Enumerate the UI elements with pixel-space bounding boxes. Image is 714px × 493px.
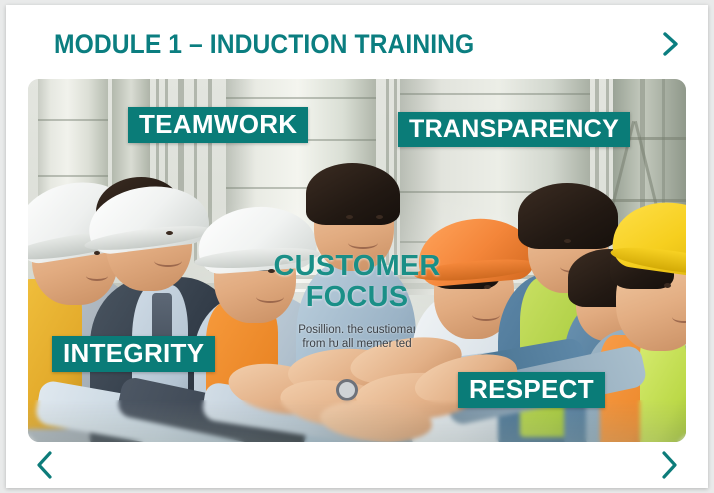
- chevron-right-icon: [658, 449, 680, 481]
- headline-subtext-line-2: from ƕ all memer ted: [227, 337, 487, 351]
- slide-card: MODULE 1 – INDUCTION TRAINING: [6, 5, 708, 488]
- headline-line-2: FOCUS: [227, 282, 487, 313]
- value-badge-integrity: INTEGRITY: [52, 336, 215, 372]
- prev-slide-button[interactable]: [28, 448, 62, 482]
- headline-subtext: Posillion. the custiomaı from ƕ all meme…: [227, 323, 487, 352]
- value-badge-teamwork: TEAMWORK: [128, 107, 308, 143]
- header-next-button[interactable]: [656, 29, 686, 59]
- headline-line-1: CUSTOMER: [227, 251, 487, 282]
- customer-focus-headline: CUSTOMER FOCUS Posillion. the custiomaı …: [227, 251, 487, 351]
- slide-footer: [6, 442, 708, 488]
- page-title: MODULE 1 – INDUCTION TRAINING: [54, 29, 474, 60]
- next-slide-button[interactable]: [652, 448, 686, 482]
- slide-image: CUSTOMER FOCUS Posillion. the custiomaı …: [28, 79, 686, 442]
- chevron-right-icon: [661, 30, 681, 58]
- value-badge-transparency: TRANSPARENCY: [398, 112, 630, 147]
- wrist-watch: [336, 379, 358, 401]
- slide-header: MODULE 1 – INDUCTION TRAINING: [6, 5, 708, 79]
- chevron-left-icon: [34, 449, 56, 481]
- value-badge-respect: RESPECT: [458, 372, 605, 408]
- headline-subtext-line-1: Posillion. the custiomaı: [227, 323, 487, 337]
